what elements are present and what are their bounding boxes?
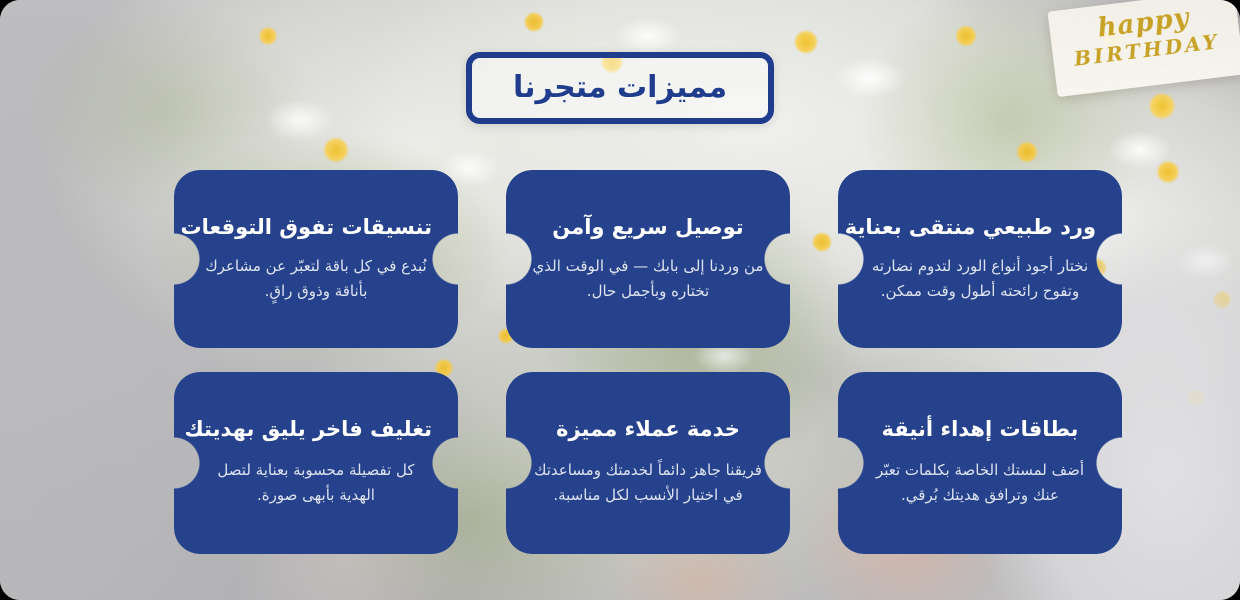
feature-card-1-title: ورد طبيعي منتقى بعناية — [864, 214, 1096, 240]
feature-card-2[interactable]: توصيل سريع وآمن من وردنا إلى بابك — في ا… — [506, 170, 790, 348]
feature-card-2-body: من وردنا إلى بابك — في الوقت الذي تختاره… — [532, 254, 764, 303]
feature-card-6-body: كل تفصيلة محسوبة بعناية لتصل الهدية بأبه… — [200, 458, 432, 507]
feature-card-5[interactable]: خدمة عملاء مميزة فريقنا جاهز دائماً لخدم… — [506, 372, 790, 554]
feature-card-5-title: خدمة عملاء مميزة — [532, 416, 764, 442]
page-title-box: مميزات متجرنا — [466, 52, 774, 124]
page-title: مميزات متجرنا — [513, 73, 727, 103]
feature-card-3-body: نُبدع في كل باقة لتعبّر عن مشاعرك بأناقة… — [200, 254, 432, 303]
feature-card-5-body: فريقنا جاهز دائماً لخدمتك ومساعدتك في اخ… — [532, 458, 764, 507]
feature-card-4-body: أضف لمستك الخاصة بكلمات تعبّر عنك وترافق… — [864, 458, 1096, 507]
feature-card-1-body: نختار أجود أنواع الورد لتدوم نضارته وتفو… — [864, 254, 1096, 303]
feature-card-4[interactable]: بطاقات إهداء أنيقة أضف لمستك الخاصة بكلم… — [838, 372, 1122, 554]
feature-card-4-title: بطاقات إهداء أنيقة — [864, 416, 1096, 442]
feature-card-2-title: توصيل سريع وآمن — [532, 214, 764, 240]
feature-card-grid: ورد طبيعي منتقى بعناية نختار أجود أنواع … — [118, 170, 1122, 555]
feature-banner: happy BIRTHDAY مميزات متجرنا ورد طبيعي م… — [0, 0, 1240, 600]
feature-card-3[interactable]: تنسيقات تفوق التوقعات نُبدع في كل باقة ل… — [174, 170, 458, 348]
feature-card-6[interactable]: تغليف فاخر يليق بهديتك كل تفصيلة محسوبة … — [174, 372, 458, 554]
feature-card-6-title: تغليف فاخر يليق بهديتك — [200, 416, 432, 442]
feature-card-3-title: تنسيقات تفوق التوقعات — [200, 214, 432, 240]
feature-card-1[interactable]: ورد طبيعي منتقى بعناية نختار أجود أنواع … — [838, 170, 1122, 348]
